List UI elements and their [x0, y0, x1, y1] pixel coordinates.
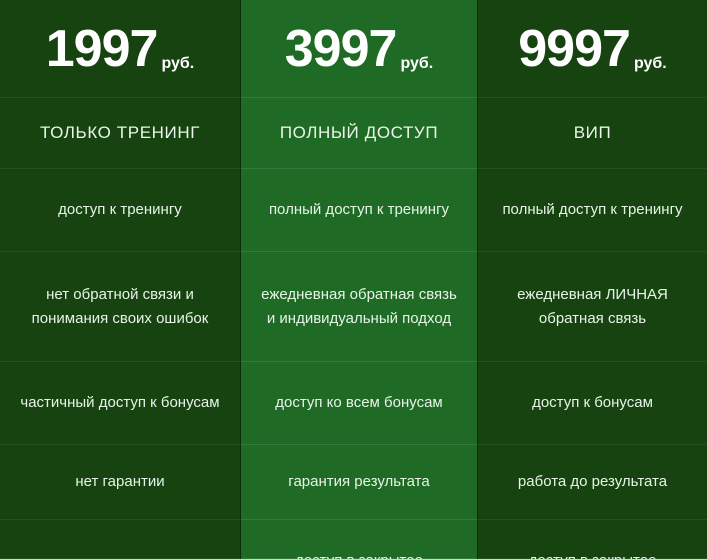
feature-text: доступ к тренингу	[16, 198, 224, 221]
price-currency-vip: руб.	[634, 56, 667, 72]
feature-list-basic: доступ к тренингу нет обратной связи и п…	[0, 169, 240, 559]
feature-text: ежедневная обратная связь и индивидуальн…	[257, 283, 461, 330]
plan-name-cell-full-access: ПОЛНЫЙ ДОСТУП	[241, 98, 477, 169]
feature-cell	[0, 520, 240, 559]
pricing-table: 1997 руб. ТОЛЬКО ТРЕНИНГ доступ к тренин…	[0, 0, 707, 559]
price-cell-basic: 1997 руб.	[0, 0, 240, 98]
plan-name-cell-vip: ВИП	[478, 98, 707, 169]
plan-name-full-access: ПОЛНЫЙ ДОСТУП	[280, 123, 438, 143]
feature-cell: доступ в закрытое	[241, 520, 477, 559]
price-currency-full-access: руб.	[400, 56, 433, 72]
feature-cell: доступ ко всем бонусам	[241, 362, 477, 445]
plan-column-basic[interactable]: 1997 руб. ТОЛЬКО ТРЕНИНГ доступ к тренин…	[0, 0, 241, 559]
price-inner-basic: 1997 руб.	[46, 23, 194, 75]
feature-cell: нет гарантии	[0, 445, 240, 520]
feature-cell: полный доступ к тренингу	[478, 169, 707, 252]
price-inner-vip: 9997 руб.	[518, 23, 666, 75]
feature-text: нет гарантии	[16, 470, 224, 493]
price-cell-vip: 9997 руб.	[478, 0, 707, 98]
feature-text: гарантия результата	[257, 470, 461, 493]
feature-cell: доступ в закрытое	[478, 520, 707, 559]
feature-cell: доступ к бонусам	[478, 362, 707, 445]
feature-text: ежедневная ЛИЧНАЯ обратная связь	[494, 283, 691, 330]
feature-text: доступ к бонусам	[494, 391, 691, 414]
plan-name-basic: ТОЛЬКО ТРЕНИНГ	[40, 123, 200, 143]
plan-column-vip[interactable]: 9997 руб. ВИП полный доступ к тренингу е…	[478, 0, 707, 559]
feature-text: доступ в закрытое	[494, 549, 691, 559]
feature-cell: ежедневная ЛИЧНАЯ обратная связь	[478, 252, 707, 362]
feature-cell: ежедневная обратная связь и индивидуальн…	[241, 252, 477, 362]
feature-list-vip: полный доступ к тренингу ежедневная ЛИЧН…	[478, 169, 707, 559]
feature-cell: полный доступ к тренингу	[241, 169, 477, 252]
plan-name-cell-basic: ТОЛЬКО ТРЕНИНГ	[0, 98, 240, 169]
price-amount-basic: 1997	[46, 23, 158, 75]
price-currency-basic: руб.	[161, 56, 194, 72]
plan-name-vip: ВИП	[574, 123, 612, 143]
feature-text: нет обратной связи и понимания своих оши…	[16, 283, 224, 330]
feature-cell: работа до результата	[478, 445, 707, 520]
price-amount-vip: 9997	[518, 23, 630, 75]
price-inner-full-access: 3997 руб.	[285, 23, 433, 75]
feature-text: доступ в закрытое	[257, 549, 461, 559]
feature-text: частичный доступ к бонусам	[16, 391, 224, 414]
feature-text: полный доступ к тренингу	[257, 198, 461, 221]
feature-cell: доступ к тренингу	[0, 169, 240, 252]
plan-column-full-access[interactable]: 3997 руб. ПОЛНЫЙ ДОСТУП полный доступ к …	[241, 0, 478, 559]
feature-text: полный доступ к тренингу	[494, 198, 691, 221]
feature-text: доступ ко всем бонусам	[257, 391, 461, 414]
feature-cell: нет обратной связи и понимания своих оши…	[0, 252, 240, 362]
feature-list-full-access: полный доступ к тренингу ежедневная обра…	[241, 169, 477, 559]
price-cell-full-access: 3997 руб.	[241, 0, 477, 98]
feature-cell: гарантия результата	[241, 445, 477, 520]
feature-text: работа до результата	[494, 470, 691, 493]
feature-cell: частичный доступ к бонусам	[0, 362, 240, 445]
price-amount-full-access: 3997	[285, 23, 397, 75]
